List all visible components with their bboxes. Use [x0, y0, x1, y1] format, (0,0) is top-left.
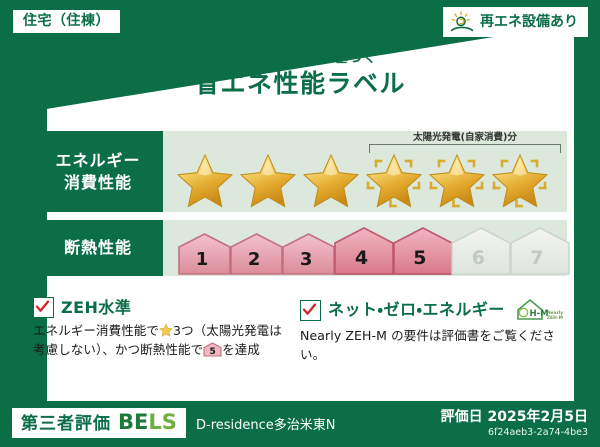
renewable-equipment-chip: 再エネ設備あり	[443, 7, 588, 37]
evaluation-date: 評価日 2025年2月5日	[441, 410, 588, 424]
star-rating	[163, 147, 567, 210]
zeh-desc-stars: 3つ（太陽光発電	[173, 323, 269, 338]
inline-house-badge: 5	[203, 342, 222, 357]
criterion-zeh-header: ZEH水準	[33, 297, 292, 318]
criterion-zehm-description: Nearly ZEH-M の要件は評価書をご覧ください。	[300, 327, 559, 364]
evaluation-id: 6f24aeb3-2a74-4be3	[488, 428, 588, 438]
criterion-zehm-title: ネット・ゼロ・エネルギー	[328, 302, 505, 318]
footer-bar: 第三者評価 BELS D-residence多治米東N 評価日 2025年2月5…	[0, 401, 600, 447]
criterion-zehm-header: ネット・ゼロ・エネルギー H-M Nearly ZEH-M	[300, 297, 559, 323]
inline-house-value: 5	[203, 348, 222, 357]
energy-performance-row: エネルギー 消費性能 太陽光発電(自家消費)分	[33, 131, 567, 212]
insulation-performance-row: 断熱性能 1 2	[33, 220, 567, 276]
inline-star-icon	[159, 323, 173, 337]
insulation-badge-2-value: 2	[229, 251, 279, 269]
zeh-desc-part1: エネルギー消費性能で	[33, 323, 159, 338]
star-icon	[176, 152, 234, 208]
eval-date-label: 評価日	[441, 409, 483, 425]
insulation-badge-5-value: 5	[392, 249, 448, 268]
insulation-row-label: 断熱性能	[33, 220, 163, 276]
star-icon	[491, 152, 549, 208]
criteria-section: ZEH水準 エネルギー消費性能で3つ（太陽光発電は考慮しない）、かつ断熱性能で5…	[33, 297, 567, 364]
check-icon	[302, 302, 317, 317]
insulation-badges: 1 2 3	[163, 220, 567, 276]
star-icon	[428, 152, 486, 208]
insulation-badge-3: 3	[281, 232, 331, 276]
title-block: 建築物省エネ法に基づく 省エネ性能ラベル	[0, 52, 600, 98]
star-icon	[365, 152, 423, 208]
star-6-solar	[488, 147, 551, 210]
insulation-badge-7: 7	[509, 226, 565, 276]
insulation-badge-6: 6	[450, 226, 506, 276]
insulation-badge-1-value: 1	[177, 251, 227, 269]
criterion-zeh-title: ZEH水準	[61, 300, 131, 316]
bels-certification-chip: 第三者評価 BELS	[12, 408, 186, 438]
renewable-chip-label: 再エネ設備あり	[480, 15, 578, 29]
star-4-solar	[362, 147, 425, 210]
insulation-badge-2: 2	[229, 232, 279, 276]
zehm-checkbox	[300, 300, 321, 321]
bels-part1: BE	[118, 410, 148, 434]
sun-solar-icon	[449, 11, 475, 33]
third-party-label: 第三者評価	[21, 416, 111, 433]
zeh-desc-part3: を達成	[222, 342, 260, 357]
page-title: 省エネ性能ラベル	[0, 70, 600, 98]
bels-part2: LS	[148, 410, 177, 434]
star-icon	[239, 152, 297, 208]
eval-date-value: 2025年2月5日	[488, 409, 588, 425]
nearly-zeh-m-logo-icon: H-M Nearly ZEH-M	[514, 297, 568, 323]
building-name: D-residence多治米東N	[196, 419, 336, 432]
energy-row-body: 太陽光発電(自家消費)分	[163, 131, 567, 212]
svg-text:H-M: H-M	[529, 309, 548, 319]
insulation-badge-6-value: 6	[450, 249, 506, 268]
insulation-badge-7-value: 7	[509, 249, 565, 268]
bels-logo: BELS	[118, 412, 177, 433]
star-5-solar	[425, 147, 488, 210]
star-2	[236, 147, 299, 210]
check-icon	[35, 299, 50, 314]
criterion-zeh: ZEH水準 エネルギー消費性能で3つ（太陽光発電は考慮しない）、かつ断熱性能で5…	[33, 297, 300, 364]
insulation-badge-4-value: 4	[333, 249, 389, 268]
energy-row-label: エネルギー 消費性能	[33, 131, 163, 212]
star-3	[299, 147, 362, 210]
insulation-badge-5: 5	[392, 226, 448, 276]
insulation-badge-4: 4	[333, 226, 389, 276]
title-subtitle: 建築物省エネ法に基づく	[0, 52, 600, 66]
zeh-checkbox	[33, 297, 54, 318]
solar-note-label: 太陽光発電(自家消費)分	[369, 133, 561, 143]
insulation-badge-1: 1	[177, 232, 227, 276]
rating-rows: エネルギー 消費性能 太陽光発電(自家消費)分	[33, 131, 567, 284]
logo-sub2: ZEH-M	[547, 315, 563, 321]
star-icon	[302, 152, 360, 208]
insulation-badge-3-value: 3	[281, 251, 331, 269]
energy-label-line2: 消費性能	[64, 172, 132, 193]
insulation-row-body: 1 2 3	[163, 220, 567, 276]
energy-label-line1: エネルギー	[55, 150, 140, 171]
star-1	[173, 147, 236, 210]
energy-label-root: 住宅（住棟） 再エネ設備あり 建築物省エネ法に基づく 省エネ性能ラベル エネルギ…	[0, 0, 600, 447]
criterion-zehm: ネット・ゼロ・エネルギー H-M Nearly ZEH-M Nearly ZEH…	[300, 297, 567, 364]
housing-type-chip: 住宅（住棟）	[12, 9, 121, 34]
criterion-zeh-description: エネルギー消費性能で3つ（太陽光発電は考慮しない）、かつ断熱性能で5を達成	[33, 322, 292, 359]
